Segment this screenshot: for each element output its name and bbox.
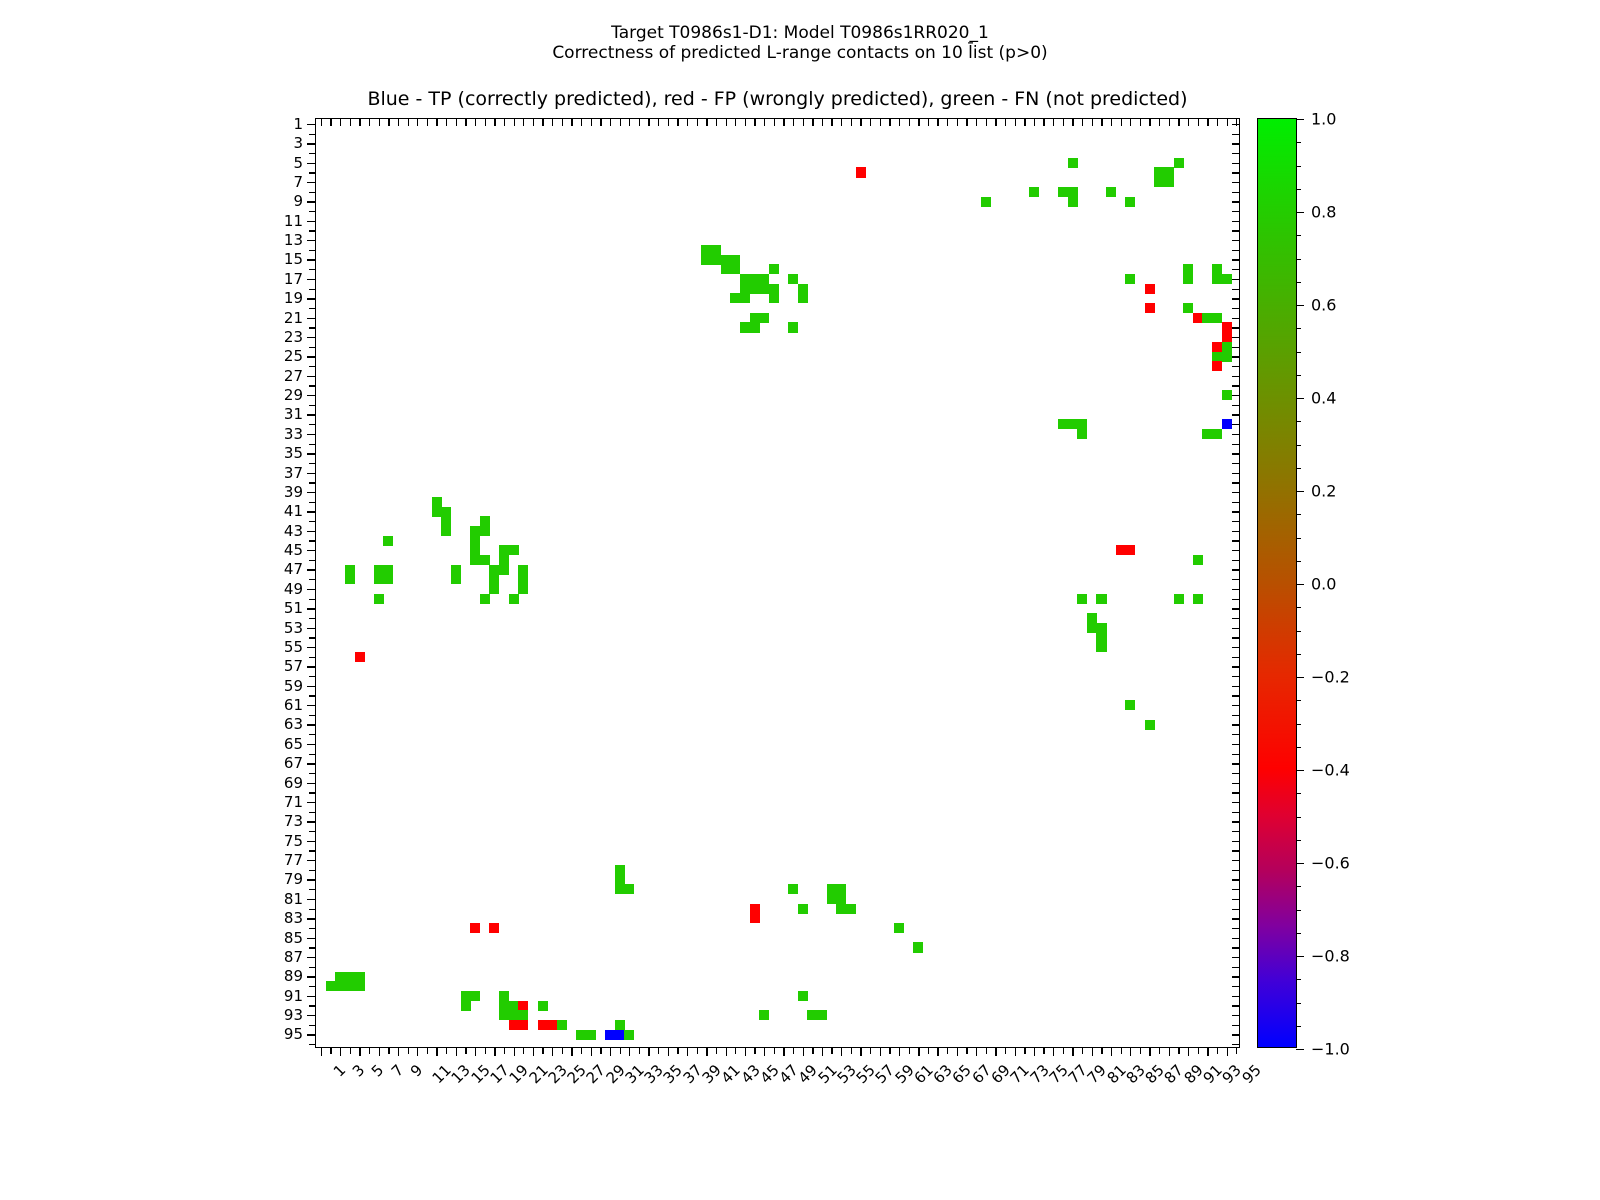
x-tick-top — [629, 119, 630, 126]
y-tick-label: 69 — [284, 774, 303, 792]
y-tick-right — [1232, 996, 1239, 997]
x-tick-top — [1121, 119, 1122, 126]
y-tick-right — [1232, 434, 1239, 435]
x-tick — [870, 1047, 871, 1054]
y-tick-right — [1232, 918, 1239, 919]
x-tick-top — [1015, 119, 1016, 126]
x-tick — [610, 1047, 611, 1056]
x-tick-top — [928, 119, 929, 126]
contact-cell-fn — [1125, 197, 1135, 207]
x-tick — [1217, 1047, 1218, 1054]
colorbar-minor-tick — [1296, 886, 1301, 887]
contact-cell-fn — [518, 584, 528, 594]
y-tick-label: 77 — [284, 851, 303, 869]
y-tick — [309, 637, 316, 638]
x-tick-top — [610, 119, 611, 126]
x-tick-top — [986, 119, 987, 126]
y-tick-right — [1232, 540, 1239, 541]
y-tick — [309, 308, 316, 309]
contact-cell-fn — [759, 1010, 769, 1020]
x-tick-top — [909, 119, 910, 126]
x-tick-top — [668, 119, 669, 126]
x-tick — [764, 1047, 765, 1056]
contact-cells-layer — [316, 119, 1239, 1047]
colorbar-minor-tick — [1296, 235, 1301, 236]
x-tick — [620, 1047, 621, 1054]
y-tick — [307, 918, 316, 919]
y-tick-label: 9 — [293, 192, 303, 210]
y-tick — [307, 143, 316, 144]
y-tick — [309, 366, 316, 367]
x-tick-top — [966, 119, 967, 126]
y-tick — [307, 279, 316, 280]
colorbar-minor-tick — [1296, 259, 1301, 260]
y-tick-right — [1232, 899, 1239, 900]
x-tick — [995, 1047, 996, 1056]
y-tick-right — [1232, 366, 1239, 367]
y-tick-right — [1232, 182, 1239, 183]
y-tick-label: 39 — [284, 483, 303, 501]
x-tick-top — [1053, 119, 1054, 126]
colorbar-minor-tick — [1296, 654, 1301, 655]
contact-cell-fn — [1193, 594, 1203, 604]
contact-cell-tp — [605, 1030, 615, 1040]
y-tick — [309, 715, 316, 716]
y-tick-right — [1232, 715, 1239, 716]
x-tick-top — [889, 119, 890, 126]
x-tick — [465, 1047, 466, 1054]
contact-cell-fn — [518, 574, 528, 584]
x-tick-top — [687, 119, 688, 126]
x-tick-top — [1227, 119, 1228, 126]
x-tick-label: 95 — [1238, 1061, 1264, 1087]
contact-cell-fn — [798, 991, 808, 1001]
contact-cell-fn — [1068, 158, 1078, 168]
colorbar-minor-tick — [1296, 212, 1301, 213]
colorbar-tick-label: −0.2 — [1311, 668, 1350, 687]
y-tick-right — [1232, 986, 1239, 987]
y-tick-label: 11 — [284, 212, 303, 230]
contact-cell-fn — [1164, 167, 1174, 177]
x-tick — [899, 1047, 900, 1056]
x-tick — [1159, 1047, 1160, 1054]
y-tick — [307, 201, 316, 202]
y-tick — [309, 153, 316, 154]
colorbar-minor-tick — [1296, 584, 1301, 585]
colorbar-minor-tick — [1296, 491, 1301, 492]
y-tick-right — [1232, 192, 1239, 193]
contact-cell-fn — [846, 904, 856, 914]
y-tick — [309, 482, 316, 483]
x-tick — [321, 1047, 322, 1056]
contact-cell-fp — [518, 1001, 528, 1011]
y-tick-right — [1232, 647, 1239, 648]
contact-cell-fp — [489, 923, 499, 933]
x-tick-top — [408, 119, 409, 126]
contact-cell-fn — [1058, 419, 1068, 429]
contact-cell-tp — [1222, 419, 1232, 429]
x-tick-top — [600, 119, 601, 126]
y-tick — [309, 230, 316, 231]
y-tick-right — [1232, 511, 1239, 512]
x-tick-top — [803, 119, 804, 126]
x-tick-top — [1198, 119, 1199, 126]
contact-cell-fn — [374, 574, 384, 584]
x-tick — [1198, 1047, 1199, 1054]
y-tick-right — [1232, 1034, 1239, 1035]
y-tick-label: 27 — [284, 367, 303, 385]
y-tick-right — [1232, 744, 1239, 745]
contact-cell-fn — [557, 1020, 567, 1030]
y-tick — [307, 569, 316, 570]
colorbar-tick-label: 0.8 — [1311, 203, 1336, 222]
y-tick — [309, 134, 316, 135]
y-tick-right — [1232, 947, 1239, 948]
y-tick — [309, 560, 316, 561]
y-tick-right — [1232, 657, 1239, 658]
contact-cell-fn — [1212, 264, 1222, 274]
y-tick-right — [1232, 395, 1239, 396]
y-tick-right — [1232, 172, 1239, 173]
x-tick-top — [485, 119, 486, 126]
y-tick — [309, 889, 316, 890]
y-tick — [307, 259, 316, 260]
y-tick — [309, 1044, 316, 1045]
y-tick-right — [1232, 473, 1239, 474]
x-tick — [1111, 1047, 1112, 1056]
x-tick — [889, 1047, 890, 1054]
x-tick — [706, 1047, 707, 1056]
x-tick-top — [706, 119, 707, 126]
x-tick — [369, 1047, 370, 1054]
y-tick — [307, 899, 316, 900]
x-tick-top — [330, 119, 331, 126]
x-tick — [629, 1047, 630, 1056]
y-tick-right — [1232, 724, 1239, 725]
colorbar-minor-tick — [1296, 1003, 1301, 1004]
contact-cell-fn — [355, 981, 365, 991]
x-tick-top — [1178, 119, 1179, 126]
contact-cell-fn — [750, 313, 760, 323]
x-tick — [831, 1047, 832, 1054]
y-tick — [307, 414, 316, 415]
contact-cell-fp — [750, 913, 760, 923]
y-tick-right — [1232, 211, 1239, 212]
contact-cell-fp — [509, 1020, 519, 1030]
contact-cell-fn — [759, 284, 769, 294]
y-tick — [309, 870, 316, 871]
y-tick — [307, 744, 316, 745]
contact-cell-fn — [1145, 720, 1155, 730]
y-tick — [309, 463, 316, 464]
contact-cell-fp — [856, 167, 866, 177]
y-tick-label: 7 — [293, 173, 303, 191]
x-tick — [735, 1047, 736, 1054]
x-tick-label: 5 — [368, 1061, 387, 1080]
contact-cell-fn — [374, 594, 384, 604]
contact-cell-fn — [807, 1010, 817, 1020]
x-tick — [716, 1047, 717, 1054]
x-tick — [909, 1047, 910, 1054]
y-tick — [307, 686, 316, 687]
colorbar-minor-tick — [1296, 747, 1301, 748]
x-tick — [1072, 1047, 1073, 1056]
y-tick — [307, 124, 316, 125]
x-tick-top — [581, 119, 582, 126]
contact-cell-fn — [470, 536, 480, 546]
y-tick-right — [1232, 259, 1239, 260]
x-tick-top — [793, 119, 794, 126]
contact-cell-fn — [817, 1010, 827, 1020]
contact-cell-fn — [894, 923, 904, 933]
contact-cell-fn — [1029, 187, 1039, 197]
y-tick-label: 45 — [284, 541, 303, 559]
contact-cell-fn — [355, 972, 365, 982]
contact-cell-fn — [730, 255, 740, 265]
y-tick-label: 65 — [284, 735, 303, 753]
y-tick — [307, 240, 316, 241]
contact-cell-fn — [701, 245, 711, 255]
y-tick — [309, 327, 316, 328]
contact-cell-fn — [432, 497, 442, 507]
y-tick-label: 91 — [284, 987, 303, 1005]
y-tick-label: 67 — [284, 754, 303, 772]
y-tick — [309, 599, 316, 600]
y-tick-label: 93 — [284, 1006, 303, 1024]
contact-cell-fn — [480, 516, 490, 526]
y-tick — [307, 821, 316, 822]
contact-cell-fn — [1183, 264, 1193, 274]
y-tick — [309, 502, 316, 503]
contact-cell-fn — [480, 555, 490, 565]
x-tick — [793, 1047, 794, 1054]
contact-cell-fn — [470, 526, 480, 536]
contact-cell-fn — [509, 1001, 519, 1011]
contact-cell-fn — [1096, 594, 1106, 604]
x-tick-top — [1034, 119, 1035, 126]
x-tick-top — [677, 119, 678, 126]
x-tick-top — [465, 119, 466, 126]
y-tick-label: 29 — [284, 386, 303, 404]
y-tick-right — [1232, 608, 1239, 609]
y-tick — [307, 473, 316, 474]
y-tick — [309, 754, 316, 755]
y-tick-right — [1232, 250, 1239, 251]
y-tick-label: 75 — [284, 832, 303, 850]
y-tick-right — [1232, 589, 1239, 590]
x-tick — [436, 1047, 437, 1056]
colorbar-minor-tick — [1296, 375, 1301, 376]
contact-map-plot-area[interactable]: 1357911131517192123252729313335373941434… — [315, 118, 1240, 1048]
contact-cell-fn — [480, 526, 490, 536]
y-tick-right — [1232, 308, 1239, 309]
x-tick-top — [1063, 119, 1064, 126]
colorbar-minor-tick — [1296, 817, 1301, 818]
y-tick — [309, 734, 316, 735]
contact-cell-fp — [355, 652, 365, 662]
x-tick-top — [1082, 119, 1083, 126]
y-tick — [309, 579, 316, 580]
y-tick — [307, 395, 316, 396]
contact-cell-fn — [750, 274, 760, 284]
x-tick-top — [697, 119, 698, 126]
colorbar-tick-label: −0.8 — [1311, 947, 1350, 966]
x-tick-top — [359, 119, 360, 126]
x-tick-top — [1130, 119, 1131, 126]
x-tick-top — [388, 119, 389, 126]
y-tick — [309, 269, 316, 270]
colorbar-minor-tick — [1296, 700, 1301, 701]
y-tick-right — [1232, 599, 1239, 600]
contact-cell-fn — [470, 555, 480, 565]
y-tick-right — [1232, 463, 1239, 464]
y-tick — [309, 405, 316, 406]
y-tick — [307, 763, 316, 764]
colorbar-minor-tick — [1296, 793, 1301, 794]
colorbar-minor-tick — [1296, 631, 1301, 632]
y-tick-right — [1232, 637, 1239, 638]
y-tick — [309, 909, 316, 910]
y-tick-right — [1232, 938, 1239, 939]
colorbar-minor-tick — [1296, 514, 1301, 515]
contact-cell-fp — [518, 1020, 528, 1030]
colorbar-tick-label: 0.6 — [1311, 296, 1336, 315]
x-tick-top — [1024, 119, 1025, 126]
y-tick-right — [1232, 240, 1239, 241]
x-tick — [726, 1047, 727, 1056]
y-tick-right — [1232, 850, 1239, 851]
colorbar-minor-tick — [1296, 863, 1301, 864]
x-tick — [1207, 1047, 1208, 1056]
y-tick-label: 57 — [284, 657, 303, 675]
y-tick-label: 15 — [284, 250, 303, 268]
colorbar-minor-tick — [1296, 119, 1301, 120]
contact-cell-fn — [509, 1010, 519, 1020]
y-tick-right — [1232, 783, 1239, 784]
contact-cell-fp — [1222, 322, 1232, 332]
x-tick-label: 7 — [387, 1061, 406, 1080]
x-tick — [774, 1047, 775, 1054]
x-tick — [591, 1047, 592, 1056]
contact-cell-fn — [1077, 429, 1087, 439]
y-tick-right — [1232, 492, 1239, 493]
colorbar-minor-tick — [1296, 166, 1301, 167]
x-tick — [1005, 1047, 1006, 1054]
x-tick — [523, 1047, 524, 1054]
y-tick-right — [1232, 928, 1239, 929]
y-tick — [307, 531, 316, 532]
colorbar[interactable]: 1.00.80.60.40.20.0−0.2−0.4−0.6−0.8−1.0 — [1257, 118, 1297, 1048]
y-tick — [307, 511, 316, 512]
contact-cell-fn — [624, 884, 634, 894]
contact-cell-fn — [470, 545, 480, 555]
contact-cell-fn — [461, 991, 471, 1001]
x-tick — [851, 1047, 852, 1054]
x-tick — [1227, 1047, 1228, 1056]
y-tick-label: 17 — [284, 270, 303, 288]
y-tick-right — [1232, 502, 1239, 503]
contact-cell-fn — [461, 1001, 471, 1011]
contact-cell-fn — [518, 1010, 528, 1020]
y-tick-right — [1232, 812, 1239, 813]
y-tick — [307, 589, 316, 590]
y-tick — [307, 705, 316, 706]
x-tick-top — [1101, 119, 1102, 126]
y-tick-label: 41 — [284, 502, 303, 520]
x-tick — [783, 1047, 784, 1056]
y-tick-label: 23 — [284, 328, 303, 346]
colorbar-tick-label: 0.2 — [1311, 482, 1336, 501]
x-tick-top — [745, 119, 746, 126]
y-tick — [307, 841, 316, 842]
x-tick — [571, 1047, 572, 1056]
y-tick — [307, 337, 316, 338]
x-tick — [552, 1047, 553, 1056]
contact-cell-fn — [1068, 187, 1078, 197]
y-tick-label: 83 — [284, 909, 303, 927]
y-tick — [307, 182, 316, 183]
contact-cell-fn — [326, 981, 336, 991]
y-tick-right — [1232, 327, 1239, 328]
x-tick-top — [321, 119, 322, 126]
y-tick-label: 3 — [293, 134, 303, 152]
contact-cell-fn — [788, 274, 798, 284]
x-tick-top — [726, 119, 727, 126]
contact-cell-fn — [836, 904, 846, 914]
x-tick-top — [340, 119, 341, 126]
contact-cell-fn — [518, 565, 528, 575]
contact-cell-fp — [1193, 313, 1203, 323]
contact-cell-fn — [788, 322, 798, 332]
x-tick-top — [716, 119, 717, 126]
x-tick — [986, 1047, 987, 1054]
contact-cell-fn — [759, 274, 769, 284]
x-tick — [957, 1047, 958, 1056]
y-tick-right — [1232, 424, 1239, 425]
contact-cell-fn — [499, 555, 509, 565]
x-tick — [1015, 1047, 1016, 1056]
contact-cell-fp — [1145, 284, 1155, 294]
y-tick — [307, 1034, 316, 1035]
y-tick-right — [1232, 482, 1239, 483]
y-tick-right — [1232, 153, 1239, 154]
y-tick-right — [1232, 628, 1239, 629]
y-tick-label: 51 — [284, 599, 303, 617]
x-tick — [427, 1047, 428, 1054]
x-tick — [1236, 1047, 1237, 1054]
x-tick — [533, 1047, 534, 1056]
y-tick-right — [1232, 318, 1239, 319]
y-tick-right — [1232, 870, 1239, 871]
x-tick-top — [841, 119, 842, 126]
y-tick — [309, 1025, 316, 1026]
x-tick — [803, 1047, 804, 1056]
contact-cell-fn — [451, 574, 461, 584]
y-tick — [307, 608, 316, 609]
y-tick — [309, 347, 316, 348]
contact-cell-fn — [798, 293, 808, 303]
x-tick-top — [860, 119, 861, 126]
contact-cell-fn — [701, 255, 711, 265]
y-tick — [307, 976, 316, 977]
y-tick — [307, 724, 316, 725]
y-tick — [309, 831, 316, 832]
y-tick-label: 59 — [284, 677, 303, 695]
x-tick — [1130, 1047, 1131, 1056]
y-tick-right — [1232, 579, 1239, 580]
y-tick — [309, 792, 316, 793]
colorbar-minor-tick — [1296, 607, 1301, 608]
